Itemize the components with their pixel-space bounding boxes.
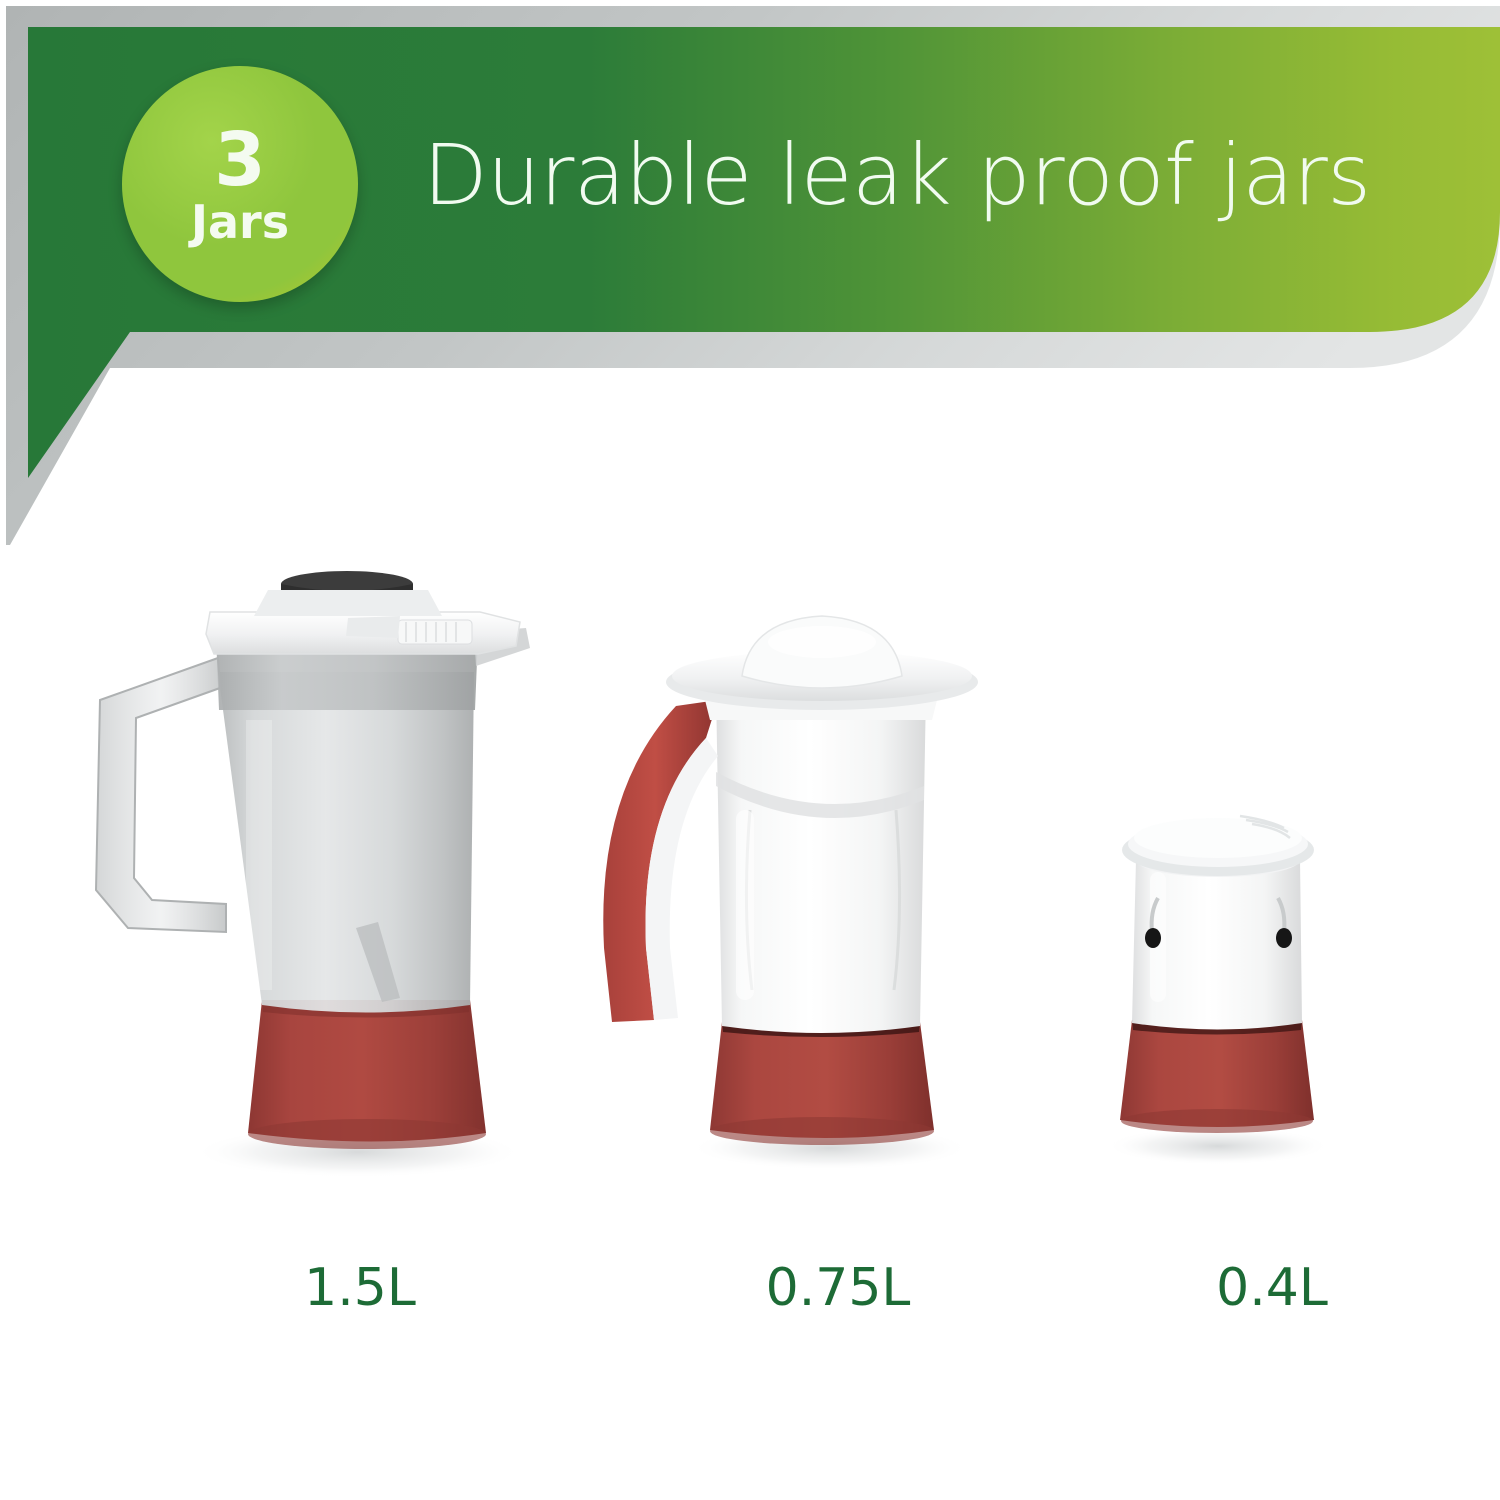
banner-headline: Durable leak proof jars [423,126,1371,224]
large-jar [96,571,530,1149]
capacity-captions: 1.5L 0.75L 0.4L [0,1258,1500,1348]
banner-content: 3 Jars Durable leak proof jars [0,0,1500,560]
large-jar-lid-tab [346,616,400,638]
large-jar-handle [96,658,226,932]
jar-count-badge: 3 Jars [122,66,358,302]
jars-illustration [0,560,1500,1260]
capacity-label-small: 0.4L [1216,1258,1328,1318]
small-jar [1120,816,1314,1133]
capacity-label-medium: 0.75L [766,1258,911,1318]
capacity-label-large: 1.5L [304,1258,416,1318]
badge-count-value: 3 [214,123,266,197]
product-feature-image: 3 Jars Durable leak proof jars [0,0,1500,1500]
large-jar-lid-grip [398,620,472,644]
large-jar-cap-collar [254,590,442,616]
badge-unit-label: Jars [191,199,289,245]
small-jar-tab-right-dot [1276,928,1292,948]
medium-jar [603,616,978,1145]
small-jar-tab-left-dot [1145,928,1161,948]
